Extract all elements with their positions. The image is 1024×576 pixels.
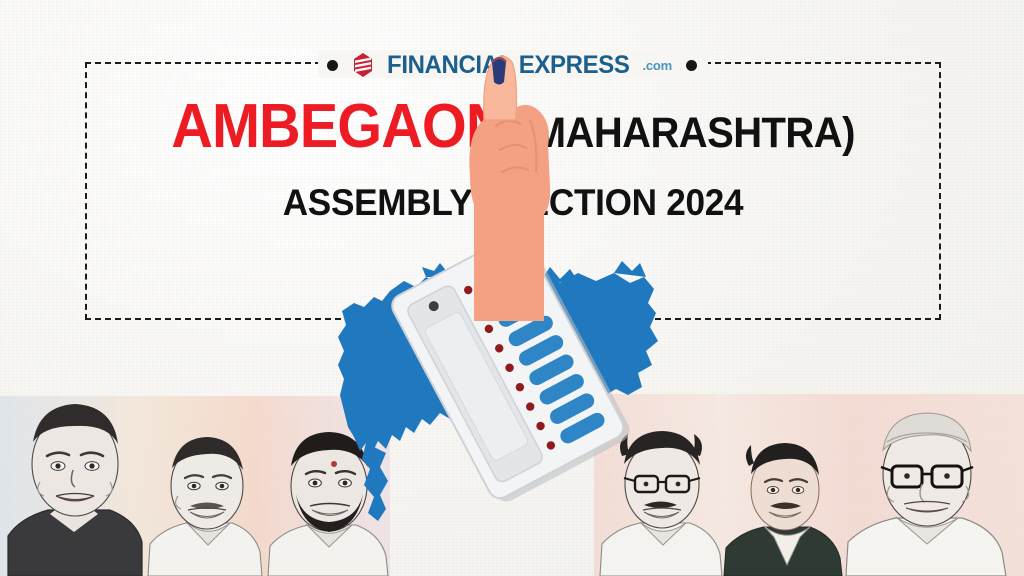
bullet-dot-right-icon (686, 60, 697, 71)
brand-tld: .com (642, 58, 672, 73)
voter-hand-inked-finger (444, 0, 574, 321)
financial-express-diamond-logo-icon (352, 53, 374, 77)
bullet-dot-left-icon (327, 60, 338, 71)
